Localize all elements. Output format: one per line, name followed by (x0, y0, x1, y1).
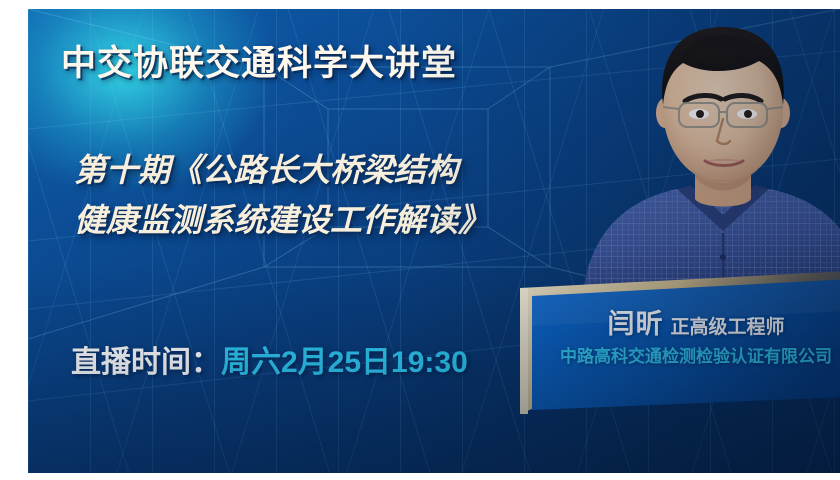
subtitle-line-2: 健康监测系统建设工作解读》 (74, 195, 490, 245)
speaker-name-row: 闫昕正高级工程师 (530, 302, 840, 341)
poster-root: 中交协联交通科学大讲堂 第十期《公路长大桥梁结构 健康监测系统建设工作解读》 直… (0, 0, 840, 480)
live-time-row: 直播时间：周六2月25日19:30 (71, 337, 468, 381)
subtitle: 第十期《公路长大桥梁结构 健康监测系统建设工作解读》 (74, 145, 490, 245)
subtitle-line-1: 第十期《公路长大桥梁结构 (74, 145, 490, 195)
live-time-value: 周六2月25日19:30 (221, 346, 468, 379)
speaker-portrait-photo (573, 9, 840, 294)
speaker-name: 闫昕 (607, 309, 663, 339)
page-title: 中交协联交通科学大讲堂 (61, 35, 457, 86)
speaker-text-group: 闫昕正高级工程师 中路高科交通检测检验认证有限公司 (498, 264, 840, 414)
speaker-role: 正高级工程师 (670, 317, 784, 338)
poster-stage: 中交协联交通科学大讲堂 第十期《公路长大桥梁结构 健康监测系统建设工作解读》 直… (28, 9, 840, 473)
speaker-organization: 中路高科交通检测检验认证有限公司 (530, 342, 840, 367)
live-time-label: 直播时间： (71, 346, 221, 379)
speaker-info-panel: 闫昕正高级工程师 中路高科交通检测检验认证有限公司 (498, 264, 840, 414)
